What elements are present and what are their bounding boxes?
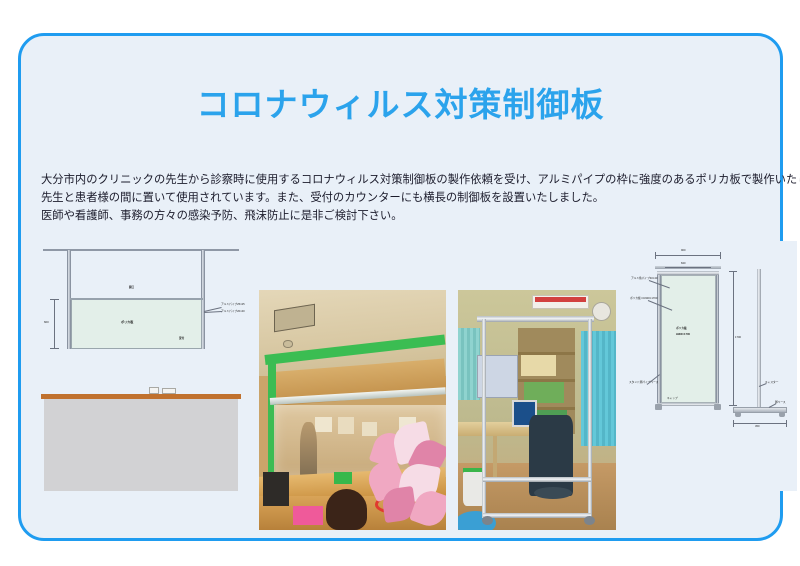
desk-object-1 [149,387,159,394]
frame-right-post [716,271,720,406]
height-dimension-tick-top [50,299,59,300]
side-view-caster-right [779,412,785,417]
polycarbonate-sheet [661,275,716,403]
foot-cap-label: キャップ [667,397,678,401]
panel-frame-base-rail [483,513,590,518]
outer-width-label: 900 [681,249,685,253]
inner-width-dimension-line [665,267,711,268]
staff-figure [300,422,317,480]
counter-body [44,399,238,491]
base-width-tick-right [786,420,787,427]
width-dimension-tick-right [720,252,721,259]
slide-page: コロナウィルス対策制御板 大分市内のクリニックの先生から診察時に使用するコロナウ… [0,0,800,566]
polycarbonate-panel [71,299,202,349]
panel-height-label: 1700 [735,336,741,340]
height-dimension-tick-bottom [50,348,59,349]
description-line-1: 大分市内のクリニックの先生から診察時に使用するコロナウィルス対策制御板の製作依頼… [41,171,771,189]
opening-label: 開口 [129,286,134,290]
office-chair-base [534,487,572,499]
material-label-1: アルミ角パイプ40×40 [631,277,657,281]
description-paragraph: 大分市内のクリニックの先生から診察時に使用するコロナウィルス対策制御板の製作依頼… [41,171,771,225]
panel-frame-mid-rail [483,477,590,482]
counter-object-label: 受付 [179,337,184,341]
seated-person-head [326,489,367,530]
base-width-tick-left [733,420,734,427]
panel-height-tick-bottom [729,405,737,406]
description-line-2: 先生と患者様の間に置いて使用されています。また、受付のカウンターにも横長の制御板… [41,189,771,207]
content-card: コロナウィルス対策制御板 大分市内のクリニックの先生から診察時に使用するコロナウ… [18,33,783,541]
frame-foot-left [655,404,662,410]
sheet-label-line-1: ポリカ板 [676,327,687,331]
panel-frame-right-post [588,319,592,518]
description-line-3: 医師や看護師、事務の方々の感染予防、飛沫防止に是非ご検討下さい。 [41,207,771,225]
width-dimension-tick-left [655,252,656,259]
base-width-dimension-line [733,423,787,424]
books [521,355,555,376]
width-dimension-line [655,255,721,256]
reception-counter-photo [259,290,446,530]
wall-sign-text [535,297,586,302]
panel-height-dimension-line [733,271,734,406]
material-label-2: ポリカ板 t3×900×1700 [630,297,657,301]
monitor [263,472,289,506]
wall-poster-2 [338,417,355,434]
panel-frame-left-post [482,319,486,518]
panel-height-tick-top [729,271,737,272]
panel-material-label: ポリカ板 [121,320,133,324]
caster-left [482,516,493,526]
page-title: コロナウィルス対策制御板 [21,88,780,121]
counter-elevation-drawing: 600 開口 ポリカ板 受付 アルミパイプ25×25 アルミパイプ20×40 [41,241,241,491]
panel-front-side-drawing: 900 840 1700 アルミ角パイプ40×40 ポリカ板 t3×900×17… [629,241,797,491]
pink-folder [293,506,323,525]
frame-bottom-rail [657,403,719,407]
desk-object-2 [162,388,176,394]
leader-label-2: アルミパイプ20×40 [221,309,245,313]
frame-top-rail [657,271,719,275]
panel-frame-top-rail [477,316,594,322]
sheet-label-line-2: H900×1700 [676,333,690,337]
ceiling-sensor [283,340,292,347]
base-width-label: 450 [755,425,759,429]
figure-strip: 600 開口 ポリカ板 受付 アルミパイプ25×25 アルミパイプ20×40 [21,241,780,506]
side-note-label-2: 脚ベース [775,401,786,405]
frame-foot-right [714,404,721,410]
material-label-3: スタンド脚パイプベース [629,381,658,385]
exam-room-photo [458,290,616,530]
leader-label-1: アルミパイプ25×25 [221,302,245,306]
height-dimension-line [54,299,55,349]
wall-poster-1 [315,417,332,431]
height-dimension-label: 600 [44,321,49,325]
desk-leg [493,436,498,479]
side-note-label-1: キャスター [765,381,778,385]
panel-mullion [70,298,203,300]
top-rail [43,249,239,251]
frame-left-post [657,271,661,406]
right-curtain [581,331,616,446]
inner-width-label: 840 [681,262,685,266]
green-tray [334,472,353,484]
side-view-caster-left [735,412,741,417]
lily-bouquet [364,424,446,530]
panel-frame [657,271,719,406]
office-chair [529,415,573,497]
